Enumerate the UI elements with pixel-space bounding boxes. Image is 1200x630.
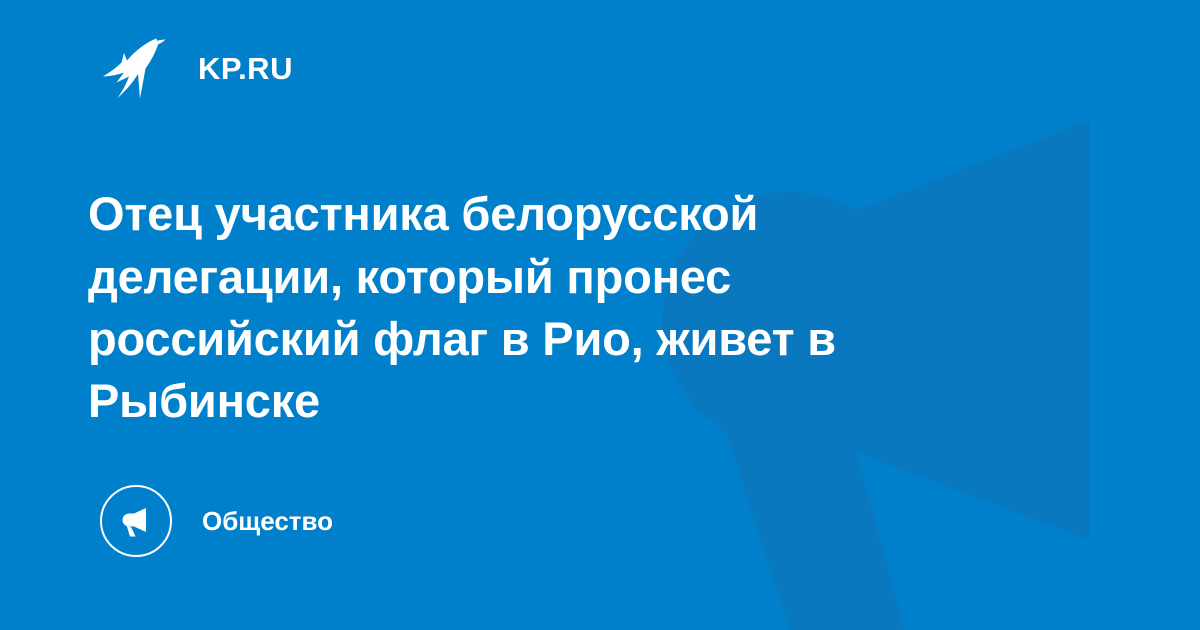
social-share-card: KP.RU Отец участника белорусской делегац…	[0, 0, 1200, 630]
brand-name: KP.RU	[198, 53, 293, 84]
megaphone-icon	[100, 485, 172, 557]
brand-logo[interactable]: KP.RU	[100, 36, 293, 100]
swallow-bird-icon	[100, 36, 166, 100]
headline: Отец участника белорусской делегации, ко…	[88, 183, 1008, 431]
category-badge[interactable]: Общество	[100, 485, 333, 557]
category-label: Общество	[202, 506, 333, 537]
card-content: KP.RU Отец участника белорусской делегац…	[0, 0, 1200, 630]
